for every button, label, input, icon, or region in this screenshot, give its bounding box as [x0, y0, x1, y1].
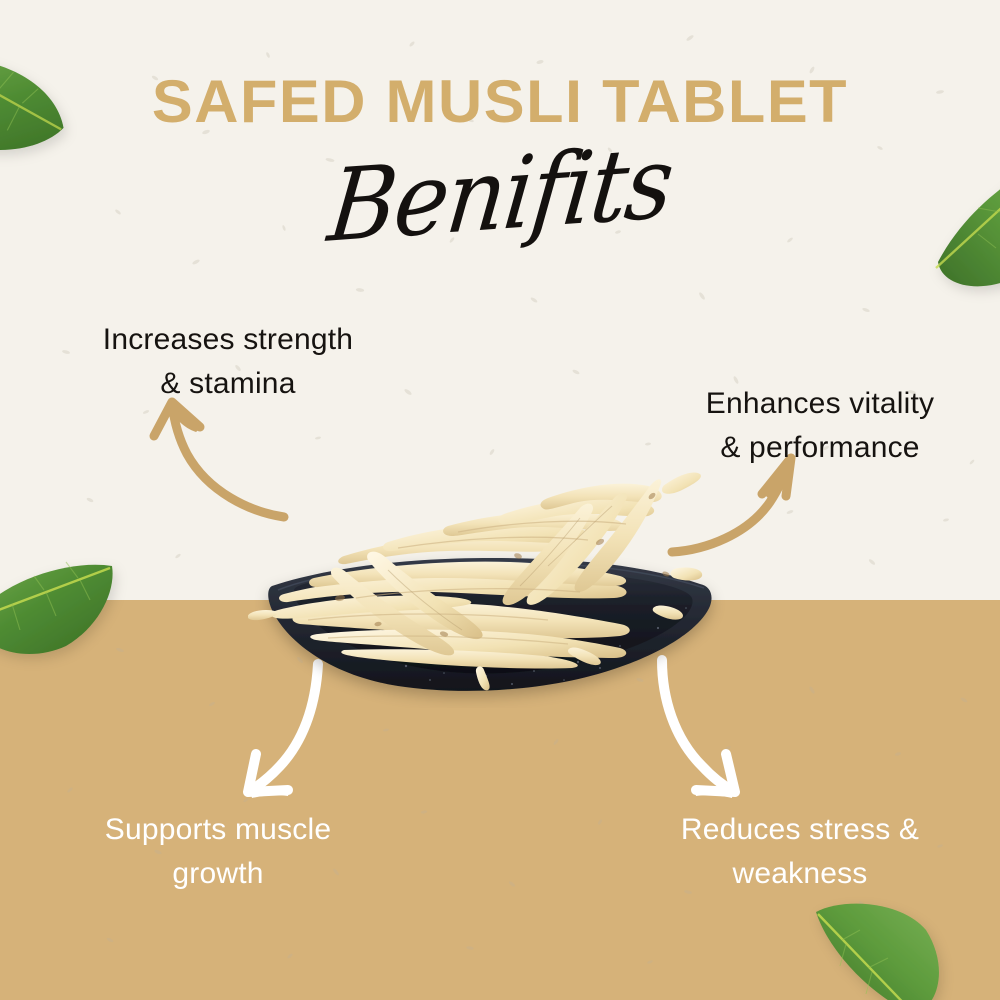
script-subtitle-wrap: Benifits — [0, 140, 1000, 270]
poster-canvas: SAFED MUSLI TABLET Benifits Increases st… — [0, 0, 1000, 1000]
product-image-safed-musli — [248, 438, 728, 708]
benefit-label-increases-strength: Increases strength & stamina — [48, 318, 408, 405]
benefit-line-1: Reduces stress & — [620, 808, 980, 852]
benefit-label-supports-muscle-growth: Supports muscle growth — [38, 808, 398, 895]
benefit-line-1: Supports muscle — [38, 808, 398, 852]
benefit-line-1: Increases strength — [48, 318, 408, 362]
page-title: SAFED MUSLI TABLET — [0, 72, 1000, 132]
benefit-label-reduces-stress: Reduces stress & weakness — [620, 808, 980, 895]
benefit-line-2: & performance — [650, 426, 990, 470]
benefit-line-2: & stamina — [48, 362, 408, 406]
benefit-label-enhances-vitality: Enhances vitality & performance — [650, 382, 990, 469]
benefit-line-2: weakness — [620, 852, 980, 896]
script-subtitle: Benifits — [323, 123, 677, 267]
benefit-line-1: Enhances vitality — [650, 382, 990, 426]
benefit-line-2: growth — [38, 852, 398, 896]
